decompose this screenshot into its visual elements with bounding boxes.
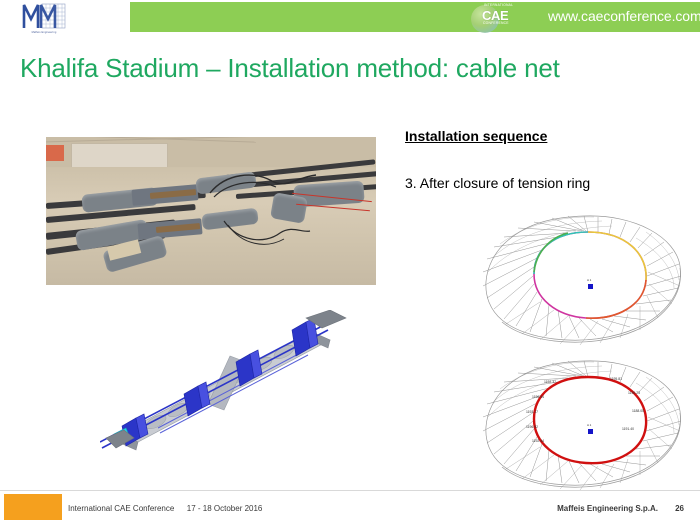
cae-logo-bottom-text: CONFERENCE — [483, 21, 509, 25]
node-marker — [588, 429, 593, 434]
cae-logo: INTERNATIONAL CAE CONFERENCE — [468, 1, 530, 35]
roof-outer-edge — [486, 216, 681, 340]
force-label: 1193.17 — [526, 410, 538, 414]
cable-socket-assembly-photo — [45, 136, 377, 286]
tension-ring-red — [534, 377, 646, 463]
maffeis-logo-caption: Maffeis Engineering — [22, 31, 66, 34]
photo-loose-wires — [222, 215, 312, 255]
node-marker — [588, 284, 593, 289]
page-number: 26 — [675, 504, 684, 513]
force-label: 1196.92 — [526, 425, 538, 429]
cable-clamp-cad-render — [100, 310, 362, 460]
tension-ring-segment-orange — [586, 280, 646, 318]
force-label: 1195.81 — [610, 377, 622, 381]
force-label: 1191.40 — [622, 427, 634, 431]
footer-conference-name: International CAE Conference — [68, 504, 174, 513]
slide-title: Khalifa Stadium – Installation method: c… — [20, 53, 690, 84]
cad-blue-clamp — [292, 318, 318, 356]
force-label: 1190.23 — [628, 391, 640, 395]
photo-red-marker — [46, 145, 64, 161]
cad-blue-clamp — [236, 350, 262, 386]
tension-ring-segment-cyan — [534, 232, 588, 274]
fea-view-top-forces: 1192.37 1196.44 1193.17 1196.92 1192.44 … — [470, 355, 700, 495]
conference-website-link[interactable]: www.caeconference.com — [548, 8, 700, 24]
roof-mesh-arcs — [488, 217, 679, 288]
roof-mesh-arcs — [488, 362, 679, 433]
slide-header: Maffeis Engineering INTERNATIONAL CAE CO… — [0, 0, 700, 36]
installation-step-label: 3. After closure of tension ring — [405, 175, 590, 191]
fea-results-area: Beam Diag [247] Z - m 5.47 [Elm 2069 (Id… — [420, 205, 700, 490]
cad-render-svg — [100, 310, 362, 460]
tension-ring-segment-green — [534, 233, 568, 272]
node-label: A 1 — [587, 278, 591, 282]
footer-dates: 17 - 18 October 2016 — [187, 504, 263, 513]
footer-divider — [0, 490, 700, 491]
cae-logo-top-text: INTERNATIONAL — [484, 3, 513, 7]
cad-blue-clamp — [184, 382, 210, 416]
maffeis-logo: Maffeis Engineering — [22, 3, 66, 33]
force-label: 1192.37 — [544, 380, 556, 384]
tension-ring-segment-yellow — [588, 232, 646, 280]
force-label: 1192.44 — [532, 439, 544, 443]
footer-company-name: Maffeis Engineering S.p.A. — [557, 504, 658, 513]
radial-cable-lower-group — [506, 272, 680, 345]
cable-net-model-forces — [470, 355, 700, 495]
force-label: 1196.44 — [532, 395, 544, 399]
footer-conference-info: International CAE Conference 17 - 18 Oct… — [68, 504, 262, 513]
fea-view-top-colored: A 1 — [470, 210, 700, 350]
installation-sequence-heading: Installation sequence — [405, 128, 547, 144]
cable-net-model-colored — [470, 210, 700, 350]
force-label: 1188.05 — [632, 409, 644, 413]
roof-outer-edge — [486, 361, 681, 485]
footer-orange-block — [4, 494, 62, 520]
maffeis-logo-icon — [22, 3, 66, 30]
node-label: A 1 — [587, 423, 591, 427]
photo-loose-wires — [206, 167, 326, 207]
